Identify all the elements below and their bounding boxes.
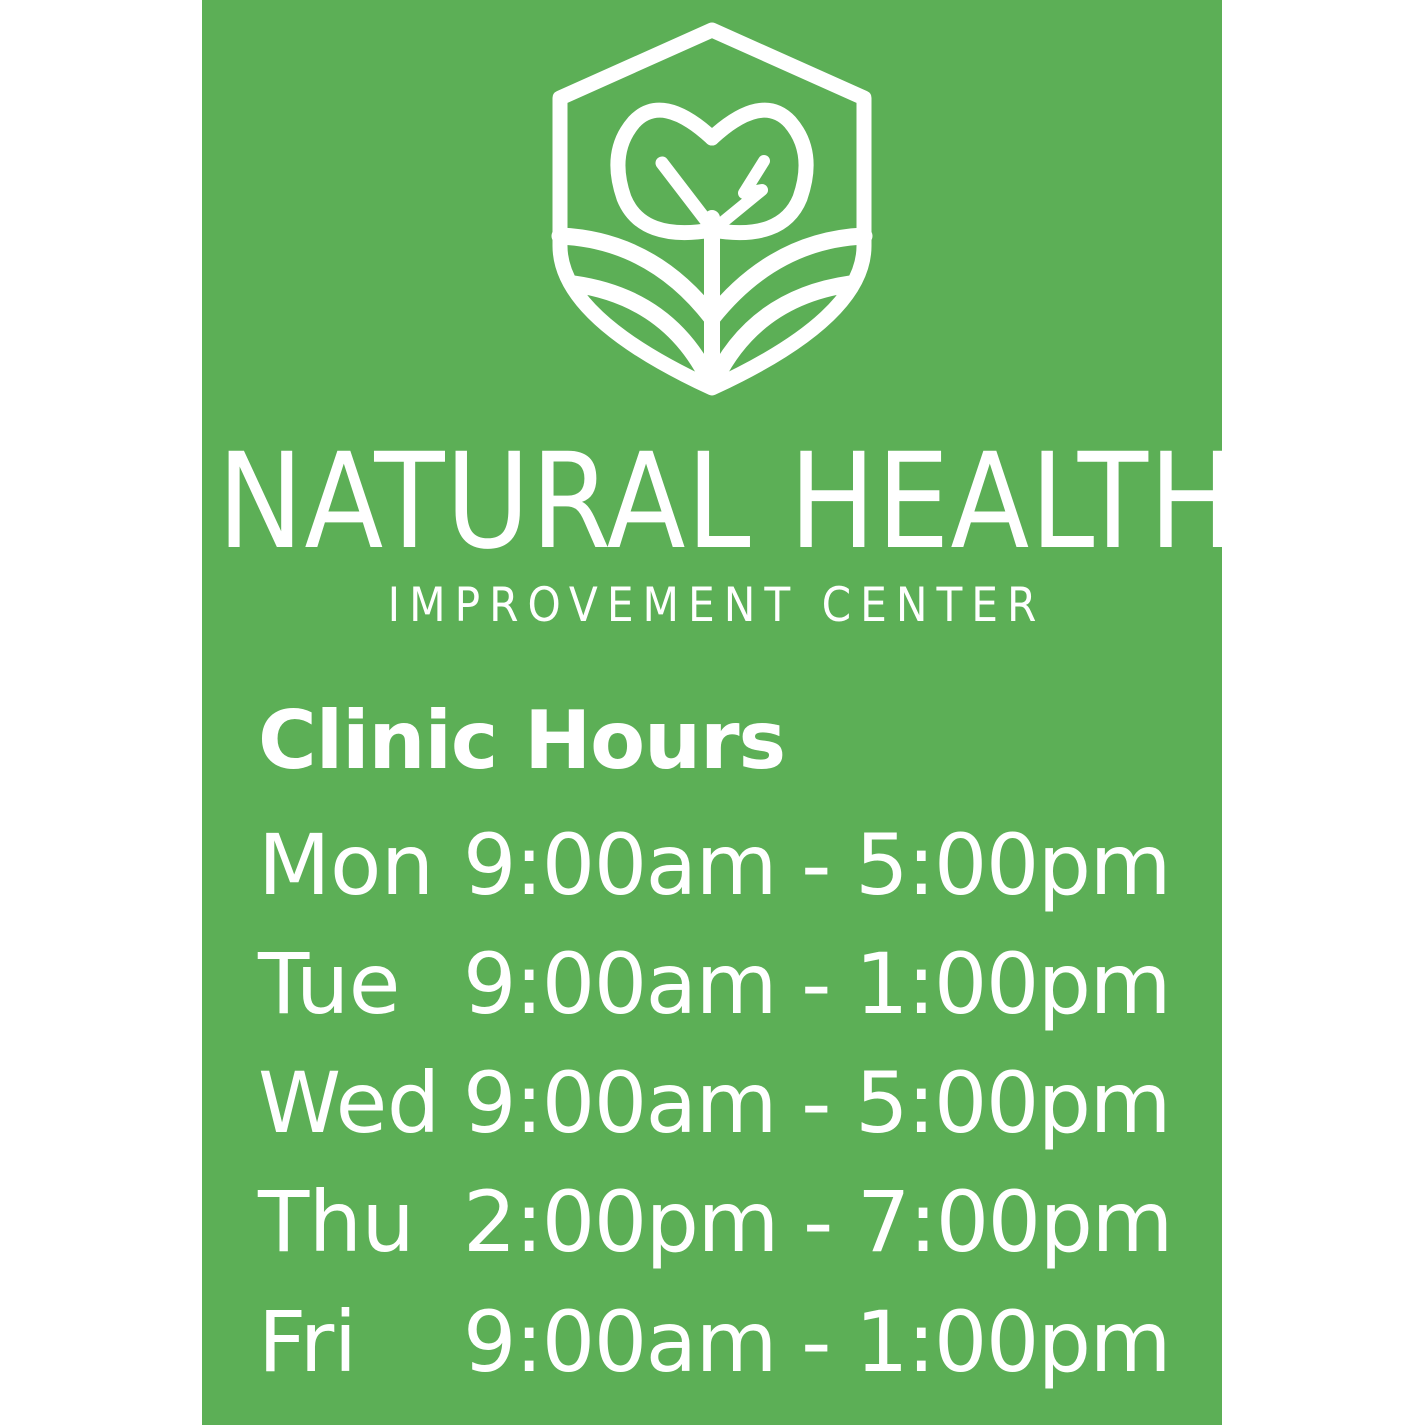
hours-row-thu: Thu 2:00pm - 7:00pm [258, 1163, 1188, 1282]
hours-row-fri: Fri 9:00am - 1:00pm [258, 1283, 1188, 1402]
hours-time-value: 9:00am - 1:00pm [463, 1283, 1170, 1402]
hours-day-label: Wed [258, 1044, 463, 1163]
green-sign-panel: NATURAL HEALTH IMPROVEMENT CENTER Clinic… [202, 0, 1222, 1425]
hours-day-label: Mon [258, 806, 463, 925]
sign-canvas: NATURAL HEALTH IMPROVEMENT CENTER Clinic… [0, 0, 1425, 1425]
hours-row-mon: Mon 9:00am - 5:00pm [258, 806, 1188, 925]
brand-name: NATURAL HEALTH [217, 450, 1206, 556]
brand-wordmark: NATURAL HEALTH IMPROVEMENT CENTER [202, 450, 1222, 629]
clinic-hours-heading: Clinic Hours [258, 700, 1188, 782]
brand-tagline: IMPROVEMENT CENTER [202, 582, 1222, 629]
shield-sprout-logo-icon [512, 18, 912, 400]
hours-row-wed: Wed 9:00am - 5:00pm [258, 1044, 1188, 1163]
hours-time-value: 9:00am - 1:00pm [463, 925, 1170, 1044]
hours-time-value: 9:00am - 5:00pm [463, 806, 1170, 925]
hours-time-value: 2:00pm - 7:00pm [463, 1163, 1172, 1282]
hours-day-label: Thu [258, 1163, 463, 1282]
hours-time-value: 9:00am - 5:00pm [463, 1044, 1170, 1163]
hours-row-tue: Tue 9:00am - 1:00pm [258, 925, 1188, 1044]
hours-day-label: Tue [258, 925, 463, 1044]
clinic-hours-list: Mon 9:00am - 5:00pm Tue 9:00am - 1:00pm … [258, 806, 1188, 1402]
clinic-hours-section: Clinic Hours Mon 9:00am - 5:00pm Tue 9:0… [258, 700, 1188, 1402]
hours-day-label: Fri [258, 1283, 463, 1402]
